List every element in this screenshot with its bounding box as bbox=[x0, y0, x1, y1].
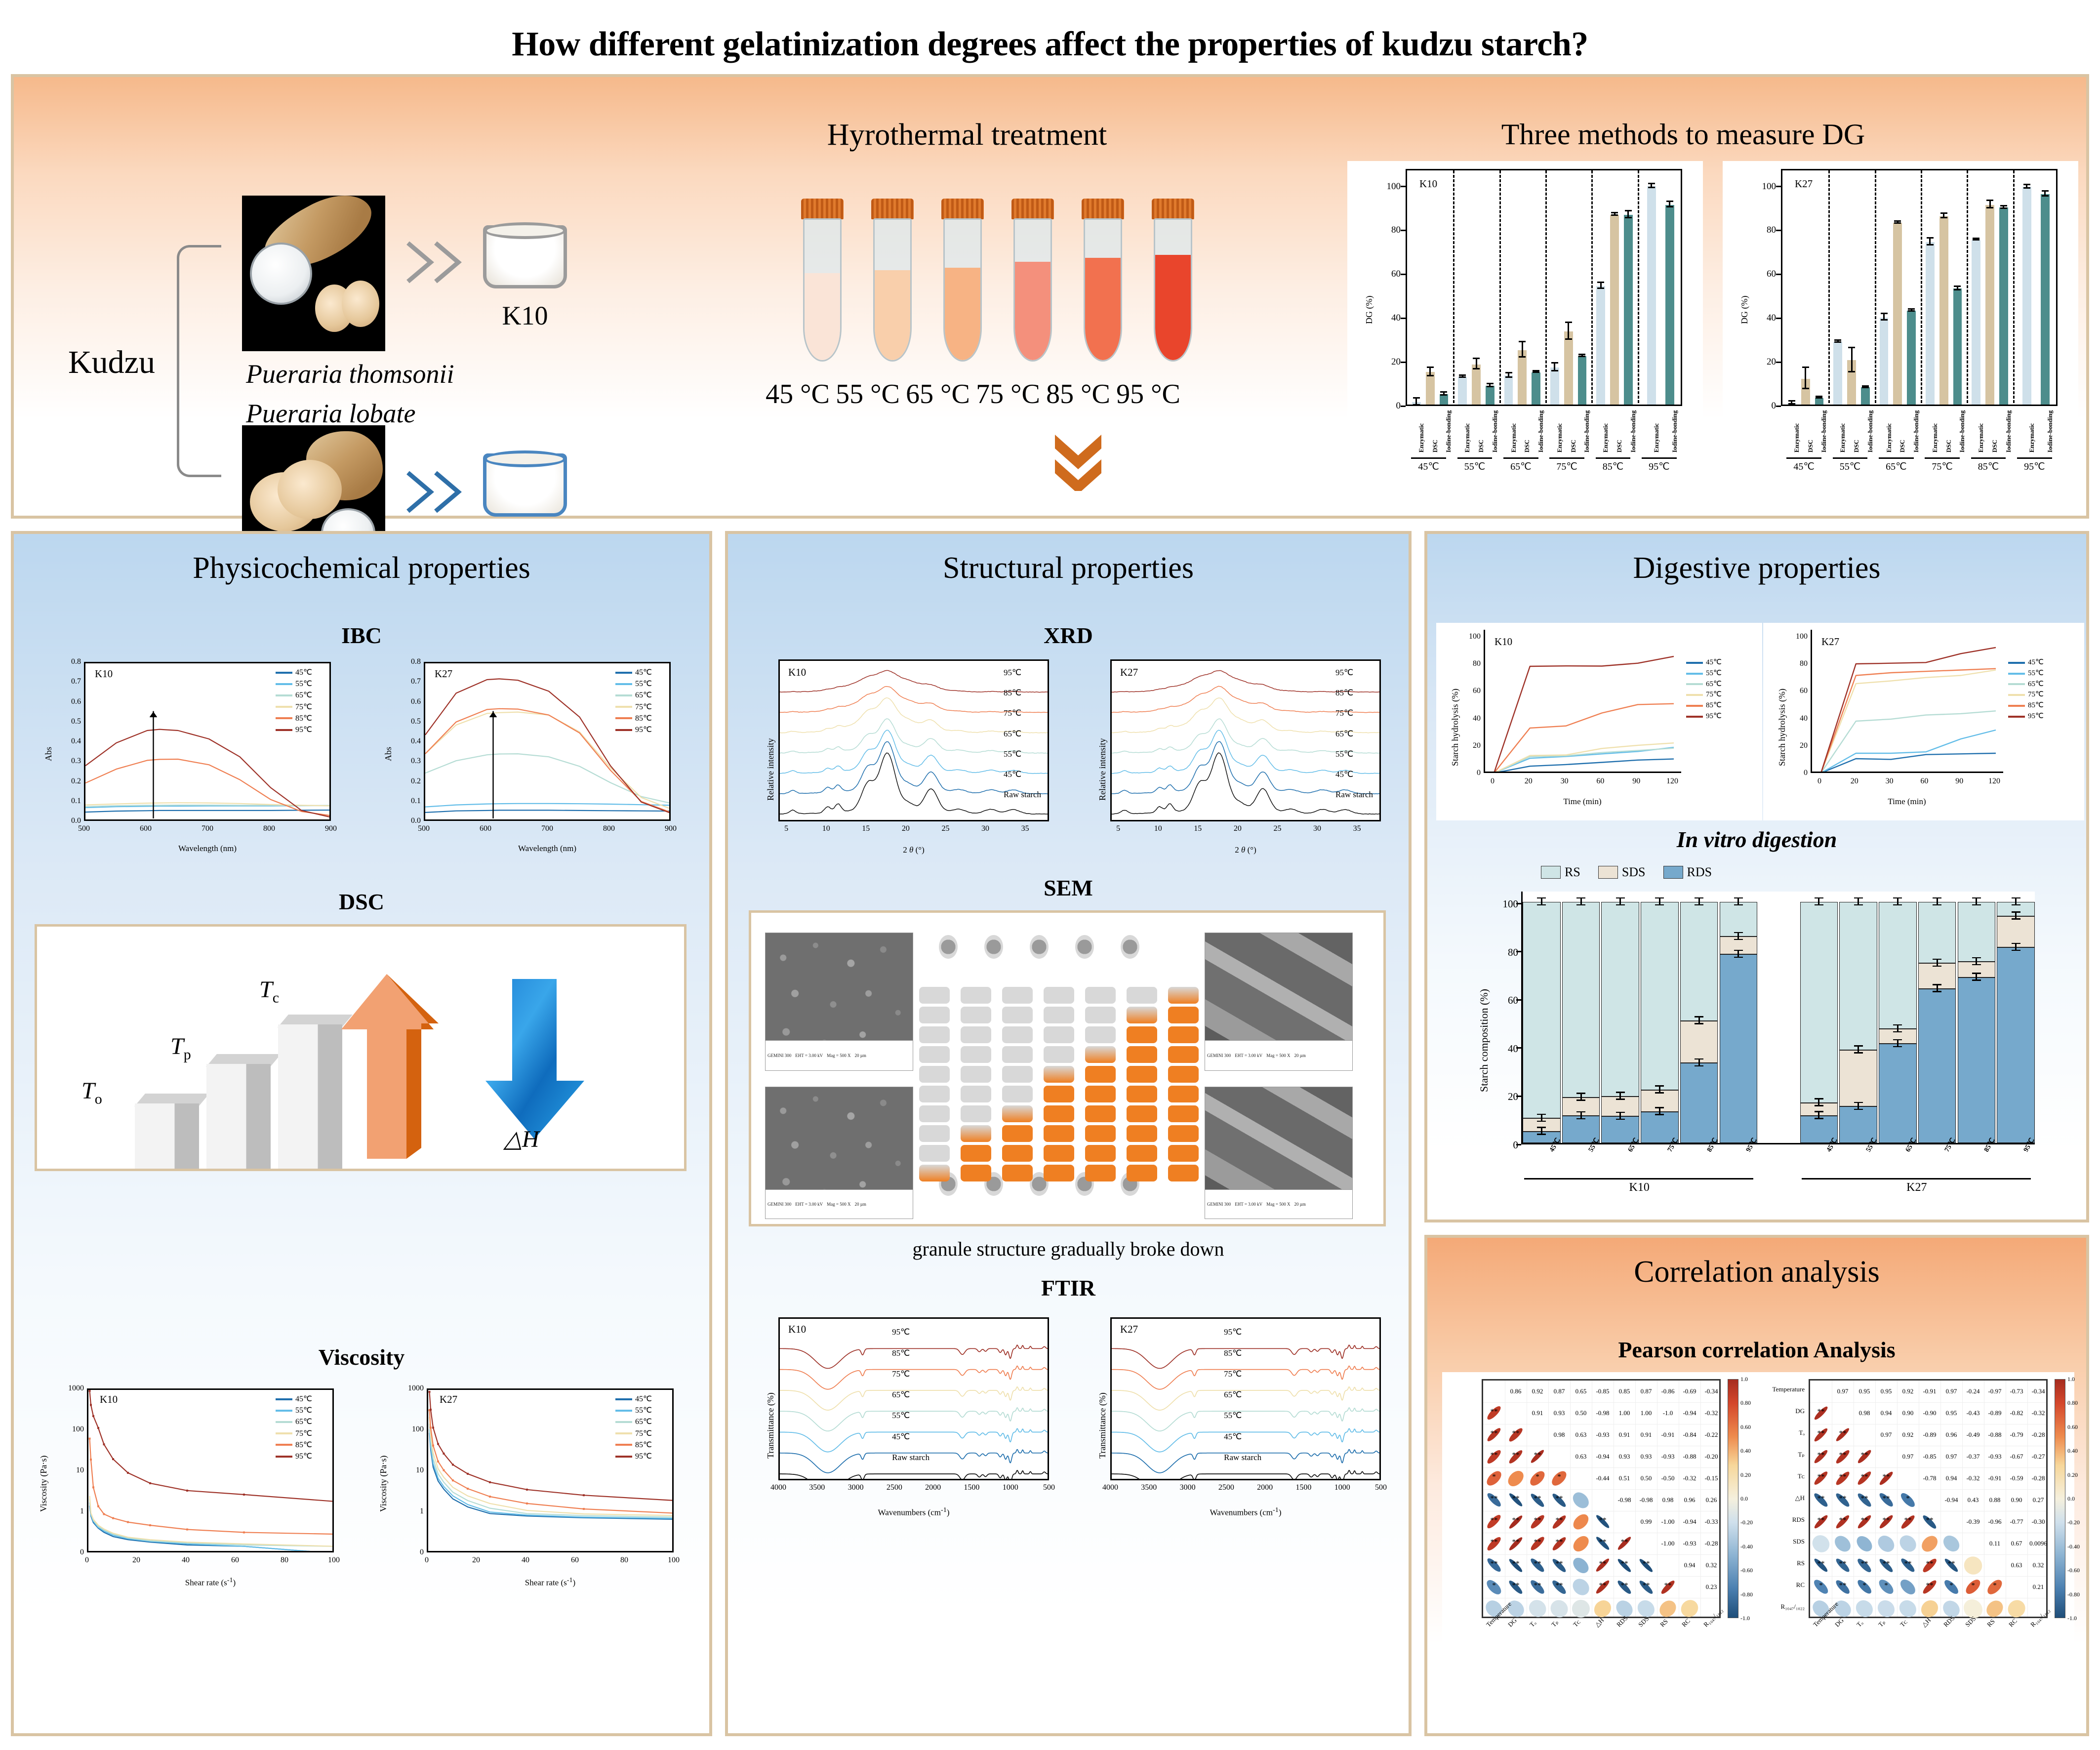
ftir-k27-xlabel: Wavenumbers (cm-1) bbox=[1110, 1506, 1381, 1518]
significance-marker: ** bbox=[1505, 1516, 1527, 1525]
significance-marker: ** bbox=[1505, 1582, 1527, 1590]
correlation-value-cell: -0.89 bbox=[1919, 1424, 1940, 1446]
correlation-value-cell: 0.93 bbox=[1635, 1446, 1657, 1467]
significance-marker: ** bbox=[1548, 1560, 1570, 1568]
hyd-ytick: 60 bbox=[1464, 687, 1481, 695]
sem-progress-pill bbox=[919, 1145, 950, 1162]
significance-marker: * bbox=[1483, 1582, 1505, 1590]
dg-bar bbox=[1893, 223, 1902, 405]
significance-marker: ** bbox=[1832, 1560, 1854, 1568]
legend-item: SDS bbox=[1598, 865, 1646, 880]
ftir-k10-xlabel: Wavenumbers (cm-1) bbox=[778, 1506, 1049, 1518]
significance-marker: * bbox=[1962, 1582, 1984, 1590]
significance-marker: ** bbox=[1592, 1560, 1614, 1568]
correlation-value-cell: 0.90 bbox=[1897, 1402, 1919, 1424]
correlation-ellipse-cell: ** bbox=[1635, 1554, 1657, 1576]
hyd-ytick: 100 bbox=[1464, 632, 1481, 641]
dg-errorbar-cap bbox=[1986, 207, 1993, 208]
dg-errorbar-cap bbox=[1519, 356, 1526, 358]
in-vitro-errorbar-cap bbox=[1537, 1121, 1546, 1122]
correlation-ellipse-cell bbox=[1570, 1598, 1592, 1620]
vis-ytick: 10 bbox=[63, 1466, 84, 1475]
dg-group-label: 55℃ bbox=[1452, 460, 1497, 473]
correlation-value-cell: -0.32 bbox=[1962, 1467, 1984, 1489]
correlation-ellipse-cell: ** bbox=[1897, 1554, 1919, 1576]
ftir-xtick: 3000 bbox=[845, 1483, 867, 1492]
correlation-ellipse-cell: ** bbox=[1832, 1446, 1854, 1467]
sem-progress-pill bbox=[1168, 1105, 1199, 1122]
dg-errorbar-cap bbox=[2000, 207, 2007, 209]
in-vitro-errorbar-cap bbox=[1815, 1098, 1823, 1099]
dg-ytick: 100 bbox=[1759, 181, 1776, 192]
in-vitro-bar-segment bbox=[1680, 1021, 1718, 1063]
in-vitro-errorbar-cap bbox=[1893, 904, 1902, 906]
correlation-ellipse-cell: * bbox=[1875, 1576, 1897, 1598]
ibc-xtick: 600 bbox=[136, 824, 156, 833]
sem-image-granular-k27: GEMINI 300EHT = 3.00 kVMag = 500 X20 µm bbox=[765, 1087, 913, 1219]
dg-errorbar-cap bbox=[2023, 184, 2030, 185]
sem-progress-pill bbox=[1044, 1046, 1074, 1063]
dg-errorbar-cap bbox=[1597, 282, 1604, 283]
dg-bar bbox=[1518, 350, 1527, 405]
correlation-ellipse-cell bbox=[1570, 1533, 1592, 1554]
dg-errorbar-cap bbox=[1565, 322, 1572, 323]
hyd-ytick: 40 bbox=[1791, 714, 1808, 723]
xrd-k10-tag: K10 bbox=[788, 666, 806, 679]
correlation-value-cell: 0.93 bbox=[1614, 1446, 1635, 1467]
correlation-ellipse bbox=[1898, 1577, 1918, 1597]
in-vitro-errorbar-cap bbox=[1854, 904, 1863, 906]
correlation-ellipse-cell bbox=[1810, 1533, 1832, 1554]
xrd-xtick: 15 bbox=[1189, 824, 1207, 833]
correlation-grid: 0.970.950.950.92-0.910.97-0.24-0.97-0.73… bbox=[1809, 1379, 2048, 1618]
ibc-xtick: 700 bbox=[198, 824, 217, 833]
dg-bar bbox=[1596, 286, 1605, 405]
sem-progress-pill bbox=[1085, 987, 1116, 1004]
dg-method-label: Iodine-bonding bbox=[1445, 410, 1453, 452]
legend-color-swatch bbox=[276, 717, 292, 719]
correlation-ellipse-cell: ** bbox=[1875, 1489, 1897, 1511]
xrd-title: XRD bbox=[728, 622, 1409, 649]
sem-image-caption: GEMINI 300EHT = 3.00 kVMag = 500 X20 µm bbox=[766, 1040, 913, 1070]
significance-marker: * bbox=[1984, 1582, 2006, 1590]
dg-group-label: 55℃ bbox=[1827, 460, 1873, 473]
dg-bar bbox=[1815, 398, 1824, 405]
significance-marker: * bbox=[1940, 1582, 1962, 1590]
colorbar-tick-label: -0.80 bbox=[2067, 1591, 2080, 1598]
correlation-col-label: Tₚ bbox=[1877, 1618, 1887, 1628]
dg-method-label: Enzymatic bbox=[1510, 423, 1518, 452]
in-vitro-ytick-mark bbox=[1516, 1096, 1521, 1097]
correlation-ellipse-cell: ** bbox=[1483, 1554, 1505, 1576]
test-tube-95 bbox=[1150, 199, 1196, 362]
correlation-ellipse bbox=[1897, 1532, 1920, 1555]
sem-progress-pill bbox=[1127, 987, 1157, 1004]
correlation-ellipse-cell: ** bbox=[1832, 1576, 1854, 1598]
hyd-xtick: 120 bbox=[1663, 777, 1681, 786]
colorbar-tick-label: -0.40 bbox=[1740, 1543, 1753, 1550]
correlation-value-cell: -0.28 bbox=[2027, 1424, 2049, 1446]
correlation-ellipse-cell bbox=[1505, 1467, 1527, 1489]
sem-progress-pill bbox=[1127, 1105, 1157, 1122]
vis-xtick: 0 bbox=[77, 1556, 97, 1565]
hyd-ytick: 40 bbox=[1464, 714, 1481, 723]
correlation-ellipse-cell bbox=[1570, 1511, 1592, 1533]
correlation-value-cell: -0.79 bbox=[2006, 1424, 2027, 1446]
xrd-xtick: 35 bbox=[1348, 824, 1366, 833]
correlation-ellipse-cell: ** bbox=[1810, 1467, 1832, 1489]
correlation-ellipse-cell: ** bbox=[1592, 1511, 1614, 1533]
correlation-ellipse-cell: * bbox=[1854, 1576, 1875, 1598]
correlation-ellipse-cell: ** bbox=[1527, 1576, 1548, 1598]
viscosity-k27-ylabel: Viscosity (Pa·s) bbox=[378, 1456, 389, 1512]
in-vitro-bar-segment bbox=[1562, 902, 1600, 1097]
correlation-ellipse-cell: ** bbox=[1832, 1554, 1854, 1576]
correlation-value-cell: -0.94 bbox=[1679, 1511, 1700, 1533]
pearson-matrix-k27: 0.970.950.950.92-0.910.97-0.24-0.97-0.73… bbox=[1753, 1372, 2074, 1718]
correlation-ellipse-cell: ** bbox=[1527, 1489, 1548, 1511]
correlation-ellipse-cell: ** bbox=[1875, 1467, 1897, 1489]
correlation-ellipse-cell bbox=[1592, 1598, 1614, 1620]
dg-errorbar-cap bbox=[1427, 375, 1434, 376]
dg-errorbar-cap bbox=[1986, 200, 1993, 201]
correlation-row-label: Tₚ bbox=[1753, 1451, 1805, 1459]
legend-label: 45℃ bbox=[2028, 657, 2044, 668]
legend-label: 45℃ bbox=[635, 667, 652, 678]
correlation-ellipse-cell: ** bbox=[1483, 1511, 1505, 1533]
correlation-ellipse-cell: ** bbox=[1505, 1576, 1527, 1598]
legend-item: 55℃ bbox=[1686, 668, 1722, 679]
vis-xtick: 60 bbox=[225, 1556, 245, 1565]
significance-marker: ** bbox=[1527, 1495, 1548, 1503]
in-vitro-errorbar-cap bbox=[2012, 918, 2020, 920]
in-vitro-errorbar-cap bbox=[1815, 1118, 1823, 1119]
correlation-value-cell: 0.32 bbox=[1700, 1554, 1722, 1576]
dg-ytick-mark bbox=[1401, 406, 1406, 407]
in-vitro-errorbar-cap bbox=[1734, 897, 1743, 899]
sem-progress-pill bbox=[1085, 1165, 1116, 1181]
sem-progress-pill bbox=[1168, 1086, 1199, 1102]
dg-bar bbox=[1486, 386, 1494, 405]
dg-ytick: 0 bbox=[1759, 401, 1776, 411]
legend-label: 85℃ bbox=[295, 1439, 312, 1451]
significance-marker: ** bbox=[1832, 1516, 1854, 1525]
correlation-value-cell: 0.93 bbox=[1548, 1402, 1570, 1424]
dg-ytick-mark bbox=[1776, 362, 1781, 363]
correlation-value-cell: 0.97 bbox=[1875, 1424, 1897, 1446]
viscosity-chart-k27: Viscosity (Pa·s) K27 Shear rate (s-1) 01… bbox=[365, 1380, 695, 1597]
viscosity-title: Viscosity bbox=[14, 1344, 709, 1370]
significance-marker: ** bbox=[1548, 1495, 1570, 1503]
legend-color-swatch bbox=[276, 683, 292, 685]
hydrolysis-k10-ylabel: Starch hydrolysis (%) bbox=[1450, 689, 1460, 766]
correlation-ellipse-cell: ** bbox=[1657, 1576, 1679, 1598]
vis-xtick: 100 bbox=[324, 1556, 344, 1565]
correlation-value-cell: 0.65 bbox=[1570, 1381, 1592, 1402]
significance-marker: ** bbox=[1483, 1495, 1505, 1503]
significance-marker: * bbox=[1527, 1473, 1548, 1481]
sem-progress-pill bbox=[961, 987, 991, 1004]
in-vitro-errorbar-cap bbox=[2012, 943, 2020, 944]
correlation-value-cell: 0.97 bbox=[1940, 1381, 1962, 1402]
correlation-value-cell: 0.43 bbox=[1962, 1489, 1984, 1511]
dg-group-divider bbox=[1499, 170, 1501, 406]
dg-errorbar-cap bbox=[1505, 372, 1512, 373]
sem-progress-pill bbox=[1044, 1007, 1074, 1023]
dg-errorbar-cap bbox=[1788, 400, 1795, 402]
sem-progress-pill bbox=[1168, 1145, 1199, 1162]
correlation-value-cell: -0.37 bbox=[1962, 1446, 1984, 1467]
legend-label: 55℃ bbox=[295, 1405, 312, 1416]
in-vitro-bar-segment bbox=[1839, 902, 1877, 1050]
hyd-xtick: 0 bbox=[1811, 777, 1828, 786]
correlation-ellipse-cell: ** bbox=[1832, 1489, 1854, 1511]
overview-panel: Kudzu K10 Pueraria thomsonii Pueraria lo… bbox=[11, 74, 2089, 519]
xrd-k10-ylabel: Relative intensity bbox=[766, 738, 776, 801]
sem-progress-pill bbox=[1168, 1007, 1199, 1023]
correlation-value-cell: 0.97 bbox=[1940, 1446, 1962, 1467]
sem-progress-pill bbox=[919, 1007, 950, 1023]
vis-xtick: 60 bbox=[565, 1556, 585, 1565]
correlation-value-cell: -0.15 bbox=[1700, 1467, 1722, 1489]
test-tube-85 bbox=[1080, 199, 1126, 362]
in-vitro-legend: RSSDSRDS bbox=[1541, 865, 1712, 880]
legend-label: RS bbox=[1565, 865, 1580, 880]
sem-progress-pill bbox=[1168, 1046, 1199, 1063]
correlation-value-cell: -0.20 bbox=[1700, 1446, 1722, 1467]
hyd-ytick: 20 bbox=[1791, 741, 1808, 750]
tube-cap-icon bbox=[1152, 199, 1194, 219]
sem-progress-pill bbox=[919, 1026, 950, 1043]
legend-color-swatch bbox=[615, 1432, 632, 1434]
in-vitro-errorbar-cap bbox=[1734, 950, 1743, 951]
sem-progress-pill bbox=[961, 1145, 991, 1162]
correlation-ellipse-cell bbox=[1854, 1533, 1875, 1554]
ftir-xtick: 4000 bbox=[767, 1483, 789, 1492]
physicochemical-panel: Physicochemical properties IBC Abs K10 W… bbox=[11, 531, 712, 1736]
correlation-ellipse-cell: ** bbox=[1505, 1424, 1527, 1446]
sem-progress-pill bbox=[1168, 1165, 1199, 1181]
correlation-ellipse-cell: ** bbox=[1505, 1446, 1527, 1467]
correlation-ellipse-cell: ** bbox=[1875, 1554, 1897, 1576]
correlation-ellipse-cell: ** bbox=[1854, 1511, 1875, 1533]
legend-color-swatch bbox=[615, 1456, 632, 1458]
dg-errorbar-cap bbox=[1788, 403, 1795, 405]
significance-marker: ** bbox=[1657, 1582, 1679, 1590]
sem-progress-pill bbox=[1085, 1145, 1116, 1162]
dg-method-label: Iodine-bonding bbox=[1958, 410, 1966, 452]
ibc-xtick: 500 bbox=[414, 824, 434, 833]
dg-ytick: 40 bbox=[1759, 313, 1776, 324]
correlation-ellipse-cell: ** bbox=[1592, 1533, 1614, 1554]
temp-label: 65 °C bbox=[903, 378, 973, 410]
hydrolysis-chart-k27: Starch hydrolysis (%) K27 Time (min) 020… bbox=[1763, 623, 2084, 820]
kudzu-bracket bbox=[177, 245, 221, 477]
dg-errorbar-cap bbox=[1413, 404, 1420, 406]
correlation-value-cell: -0.22 bbox=[1700, 1424, 1722, 1446]
in-vitro-errorbar-cap bbox=[1734, 939, 1743, 940]
correlation-value-cell: 0.91 bbox=[1527, 1402, 1548, 1424]
sem-image-flake-k27: GEMINI 300EHT = 3.00 kVMag = 500 X20 µm bbox=[1205, 1087, 1353, 1219]
significance-marker: ** bbox=[1527, 1560, 1548, 1568]
in-vitro-errorbar-cap bbox=[1933, 984, 1941, 985]
significance-marker: ** bbox=[1810, 1473, 1832, 1481]
dg-errorbar-cap bbox=[1894, 220, 1901, 222]
temp-label: 85 °C bbox=[1043, 378, 1113, 410]
correlation-row-label: RC bbox=[1753, 1581, 1805, 1589]
in-vitro-errorbar-cap bbox=[1576, 1093, 1585, 1094]
sem-progress-pill bbox=[919, 1086, 950, 1102]
dg-bar bbox=[1472, 365, 1481, 405]
ftir-xtick: 3500 bbox=[806, 1483, 828, 1492]
ftir-trace-label: 75℃ bbox=[892, 1369, 910, 1379]
test-tube-65 bbox=[939, 199, 986, 362]
in-vitro-errorbar-cap bbox=[1893, 1046, 1902, 1048]
pearson-matrix-k10: 0.860.920.870.65-0.850.850.87-0.86-0.69-… bbox=[1442, 1372, 1758, 1718]
dg-errorbar-cap bbox=[1816, 397, 1822, 399]
significance-marker: ** bbox=[1810, 1495, 1832, 1503]
sem-progress-pill bbox=[1044, 1165, 1074, 1181]
legend-color-swatch bbox=[615, 717, 632, 719]
correlation-ellipse-cell: ** bbox=[1505, 1533, 1527, 1554]
legend-item: 55℃ bbox=[615, 678, 652, 690]
dg-ytick: 0 bbox=[1384, 401, 1401, 411]
correlation-value-cell: 0.63 bbox=[1570, 1424, 1592, 1446]
legend-item: 45℃ bbox=[615, 667, 652, 678]
sem-granule-dot bbox=[939, 935, 958, 959]
significance-marker: ** bbox=[1832, 1451, 1854, 1460]
xrd-k27-xlabel: 2 θ (°) bbox=[1110, 845, 1381, 855]
legend-color-swatch bbox=[2008, 662, 2025, 664]
in-vitro-bar-segment bbox=[1997, 947, 2035, 1143]
correlation-value-cell: -0.90 bbox=[1919, 1402, 1940, 1424]
legend-label: 45℃ bbox=[295, 667, 312, 678]
dg-bar bbox=[1861, 387, 1870, 405]
correlation-value-cell: 0.87 bbox=[1635, 1381, 1657, 1402]
correlation-ellipse-cell: ** bbox=[1810, 1446, 1832, 1467]
dg-method-label: Enzymatic bbox=[1885, 423, 1893, 452]
arrow-chevron-k10 bbox=[405, 240, 469, 285]
correlation-value-cell: -0.32 bbox=[1700, 1402, 1722, 1424]
correlation-ellipse-cell: ** bbox=[1919, 1511, 1940, 1533]
ftir-xtick: 1500 bbox=[1292, 1483, 1314, 1492]
temp-label: 55 °C bbox=[833, 378, 903, 410]
in-vitro-errorbar-cap bbox=[1972, 904, 1981, 906]
temp-label: 95 °C bbox=[1113, 378, 1183, 410]
in-vitro-ytick: 40 bbox=[1498, 1043, 1518, 1055]
vis-ytick: 1 bbox=[403, 1507, 424, 1516]
correlation-value-cell: 0.97 bbox=[1832, 1381, 1854, 1402]
sem-image-caption: GEMINI 300EHT = 3.00 kVMag = 500 X20 µm bbox=[1205, 1189, 1352, 1219]
ftir-title: FTIR bbox=[728, 1275, 1409, 1301]
correlation-ellipse bbox=[1571, 1533, 1592, 1554]
significance-marker: ** bbox=[1854, 1516, 1875, 1525]
correlation-colorbar bbox=[1728, 1379, 1738, 1618]
ibc-xtick: 800 bbox=[599, 824, 619, 833]
dg-group-line bbox=[2017, 457, 2052, 459]
sem-progress-pill bbox=[1168, 1125, 1199, 1142]
ftir-xtick: 2000 bbox=[922, 1483, 944, 1492]
dg-errorbar-cap bbox=[1440, 394, 1447, 396]
hyd-xtick: 60 bbox=[1591, 777, 1609, 786]
ibc-ytick: 0.6 bbox=[402, 697, 421, 706]
xrd-trace-label: 75℃ bbox=[1004, 708, 1021, 718]
dg-group-line bbox=[1879, 457, 1914, 459]
legend-item: 85℃ bbox=[1686, 700, 1722, 711]
ibc-ytick: 0.4 bbox=[402, 737, 421, 746]
sem-progress-pill bbox=[1002, 1007, 1033, 1023]
correlation-ellipse-cell bbox=[1854, 1598, 1875, 1620]
vis-ytick: 10 bbox=[403, 1466, 424, 1475]
correlation-value-cell: -0.39 bbox=[1962, 1511, 1984, 1533]
correlation-ellipse-cell: * bbox=[1548, 1467, 1570, 1489]
sem-progress-pill bbox=[961, 1105, 991, 1122]
significance-marker: ** bbox=[1897, 1560, 1919, 1568]
correlation-value-cell: -0.88 bbox=[1984, 1424, 2006, 1446]
ibc-xtick: 500 bbox=[74, 824, 94, 833]
legend-label: 65℃ bbox=[295, 1416, 312, 1427]
ftir-trace-label: Raw starch bbox=[1224, 1453, 1261, 1463]
legend-item: 85℃ bbox=[615, 713, 652, 724]
significance-marker: ** bbox=[1548, 1538, 1570, 1547]
dg-bar bbox=[1953, 288, 1962, 405]
dg-group-label: 95℃ bbox=[1636, 460, 1682, 473]
correlation-colorbar bbox=[2055, 1379, 2065, 1618]
correlation-ellipse bbox=[1570, 1576, 1593, 1599]
sem-progress-pill bbox=[919, 1105, 950, 1122]
significance-marker: ** bbox=[1527, 1538, 1548, 1547]
colorbar-tick-label: -0.20 bbox=[1740, 1519, 1753, 1526]
correlation-ellipse bbox=[1940, 1532, 1962, 1554]
correlation-value-cell: 0.63 bbox=[1570, 1446, 1592, 1467]
dg-bar bbox=[1985, 205, 1994, 405]
dg-bar bbox=[1504, 375, 1513, 405]
correlation-row-label: RS bbox=[1753, 1559, 1805, 1567]
sem-progress-pill bbox=[961, 1046, 991, 1063]
ibc-ytick: 0.7 bbox=[62, 677, 81, 686]
correlation-ellipse-cell: ** bbox=[1548, 1533, 1570, 1554]
legend-item: 55℃ bbox=[2008, 668, 2044, 679]
correlation-ellipse-cell: ** bbox=[1505, 1511, 1527, 1533]
correlation-value-cell: 0.50 bbox=[1570, 1402, 1592, 1424]
dg-group-line bbox=[1411, 457, 1446, 459]
significance-marker: * bbox=[1483, 1473, 1505, 1481]
in-vitro-errorbar-cap bbox=[1576, 897, 1585, 899]
sem-progress-pill bbox=[1044, 1026, 1074, 1043]
dg-bar bbox=[1999, 207, 2008, 405]
correlation-value-cell: -0.49 bbox=[1962, 1424, 1984, 1446]
correlation-col-label: Tᴄ bbox=[1572, 1618, 1582, 1628]
sem-progress-pill bbox=[1002, 1165, 1033, 1181]
structural-title: Structural properties bbox=[728, 551, 1409, 586]
ftir-trace-label: 55℃ bbox=[1224, 1411, 1242, 1421]
sem-progress-pill bbox=[1002, 1145, 1033, 1162]
hyd-ytick: 80 bbox=[1464, 659, 1481, 668]
correlation-ellipse-cell bbox=[1570, 1576, 1592, 1598]
dg-method-label: DSC bbox=[1615, 440, 1623, 452]
correlation-value-cell: 0.67 bbox=[2006, 1533, 2027, 1554]
in-vitro-errorbar-cap bbox=[1734, 904, 1743, 906]
dg-chart-k27: DG (%) K27 020406080100EnzymaticDSCIodin… bbox=[1723, 161, 2078, 502]
sem-progress-pill bbox=[1044, 1105, 1074, 1122]
in-vitro-title: In vitro digestion bbox=[1427, 826, 2086, 853]
legend-color-swatch bbox=[615, 706, 632, 708]
dsc-bar-1 bbox=[135, 1103, 199, 1169]
xrd-trace-label: Raw starch bbox=[1335, 790, 1373, 800]
dg-method-label: Iodine-bonding bbox=[1491, 410, 1499, 452]
ftir-trace-label: 85℃ bbox=[1224, 1348, 1242, 1358]
dg-method-label: Iodine-bonding bbox=[1629, 410, 1637, 452]
